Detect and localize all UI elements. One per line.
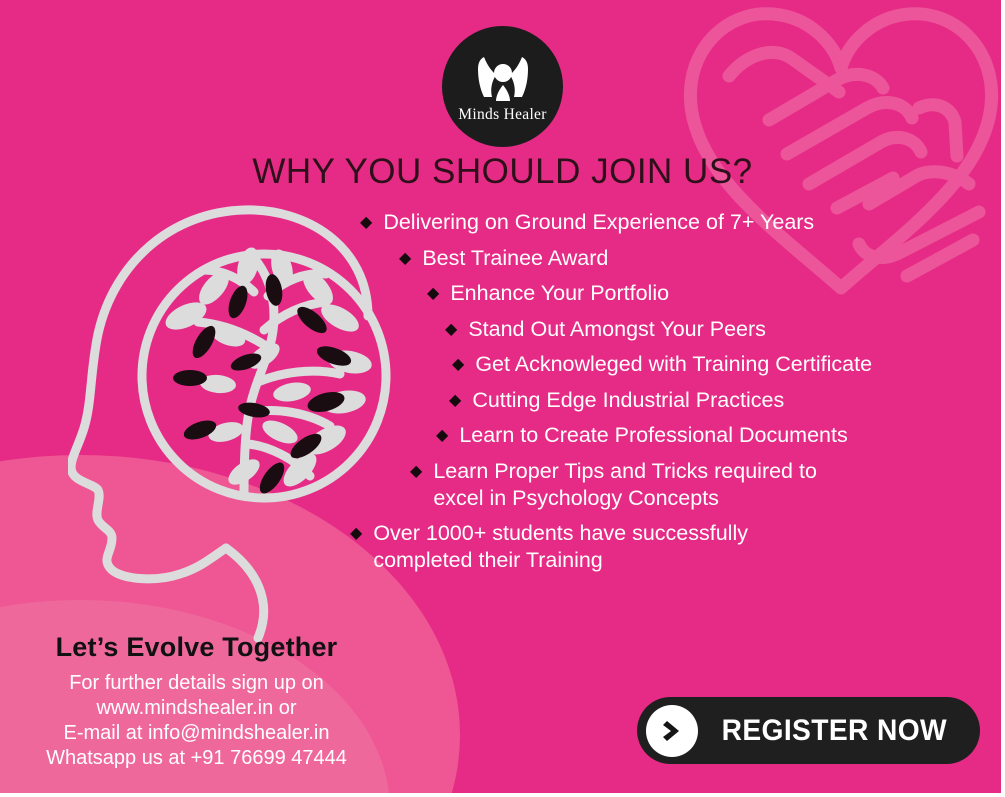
benefit-item-label: Best Trainee Award [422, 245, 608, 272]
benefit-item: ◆Cutting Edge Industrial Practices [0, 387, 1005, 414]
benefit-item: ◆Delivering on Ground Experience of 7+ Y… [0, 209, 1005, 236]
benefit-item: ◆Get Acknowleged with Training Certifica… [0, 351, 1005, 378]
chevron-right-icon [646, 705, 698, 757]
contact-line-website: www.mindshealer.in or [0, 696, 393, 721]
diamond-bullet-icon: ◆ [436, 422, 448, 449]
register-now-button[interactable]: REGISTER NOW [637, 697, 980, 764]
benefit-item-label: Stand Out Amongst Your Peers [468, 316, 766, 343]
benefit-item-label: Over 1000+ students have successfully co… [373, 520, 748, 574]
diamond-bullet-icon: ◆ [410, 458, 422, 485]
diamond-bullet-icon: ◆ [360, 209, 372, 236]
benefits-list: ◆Delivering on Ground Experience of 7+ Y… [0, 209, 1005, 583]
diamond-bullet-icon: ◆ [445, 316, 457, 343]
benefit-item: ◆Best Trainee Award [0, 245, 1005, 272]
logo-wordmark: Minds Healer [458, 106, 546, 124]
benefit-item: ◆Enhance Your Portfolio [0, 280, 1005, 307]
poster-canvas: Minds Healer WHY YOU SHOULD JOIN US? ◆De… [0, 0, 1005, 797]
contact-line-email: E-mail at info@mindshealer.in [0, 721, 393, 746]
register-now-label: REGISTER NOW [706, 714, 971, 748]
benefit-item: ◆Stand Out Amongst Your Peers [0, 316, 1005, 343]
diamond-bullet-icon: ◆ [350, 520, 362, 547]
page-title: WHY YOU SHOULD JOIN US? [0, 152, 1005, 192]
brand-logo: Minds Healer [442, 26, 563, 147]
benefit-item-label: Get Acknowleged with Training Certificat… [475, 351, 872, 378]
contact-line-signup: For further details sign up on [0, 671, 393, 696]
benefit-item: ◆Learn Proper Tips and Tricks required t… [0, 458, 1005, 512]
diamond-bullet-icon: ◆ [449, 387, 461, 414]
contact-line-whatsapp: Whatsapp us at +91 76699 47444 [0, 746, 393, 771]
tagline: Let’s Evolve Together [0, 632, 393, 663]
two-faces-profile-icon [472, 53, 534, 103]
benefit-item-label: Learn Proper Tips and Tricks required to… [433, 458, 817, 512]
benefit-item-label: Learn to Create Professional Documents [459, 422, 847, 449]
contact-block: Let’s Evolve Together For further detail… [0, 632, 393, 771]
diamond-bullet-icon: ◆ [452, 351, 464, 378]
benefit-item-label: Delivering on Ground Experience of 7+ Ye… [383, 209, 814, 236]
benefit-item-label: Cutting Edge Industrial Practices [472, 387, 784, 414]
benefit-item: ◆Over 1000+ students have successfully c… [0, 520, 1005, 574]
diamond-bullet-icon: ◆ [399, 245, 411, 272]
diamond-bullet-icon: ◆ [427, 280, 439, 307]
benefit-item: ◆Learn to Create Professional Documents [0, 422, 1005, 449]
benefit-item-label: Enhance Your Portfolio [450, 280, 669, 307]
